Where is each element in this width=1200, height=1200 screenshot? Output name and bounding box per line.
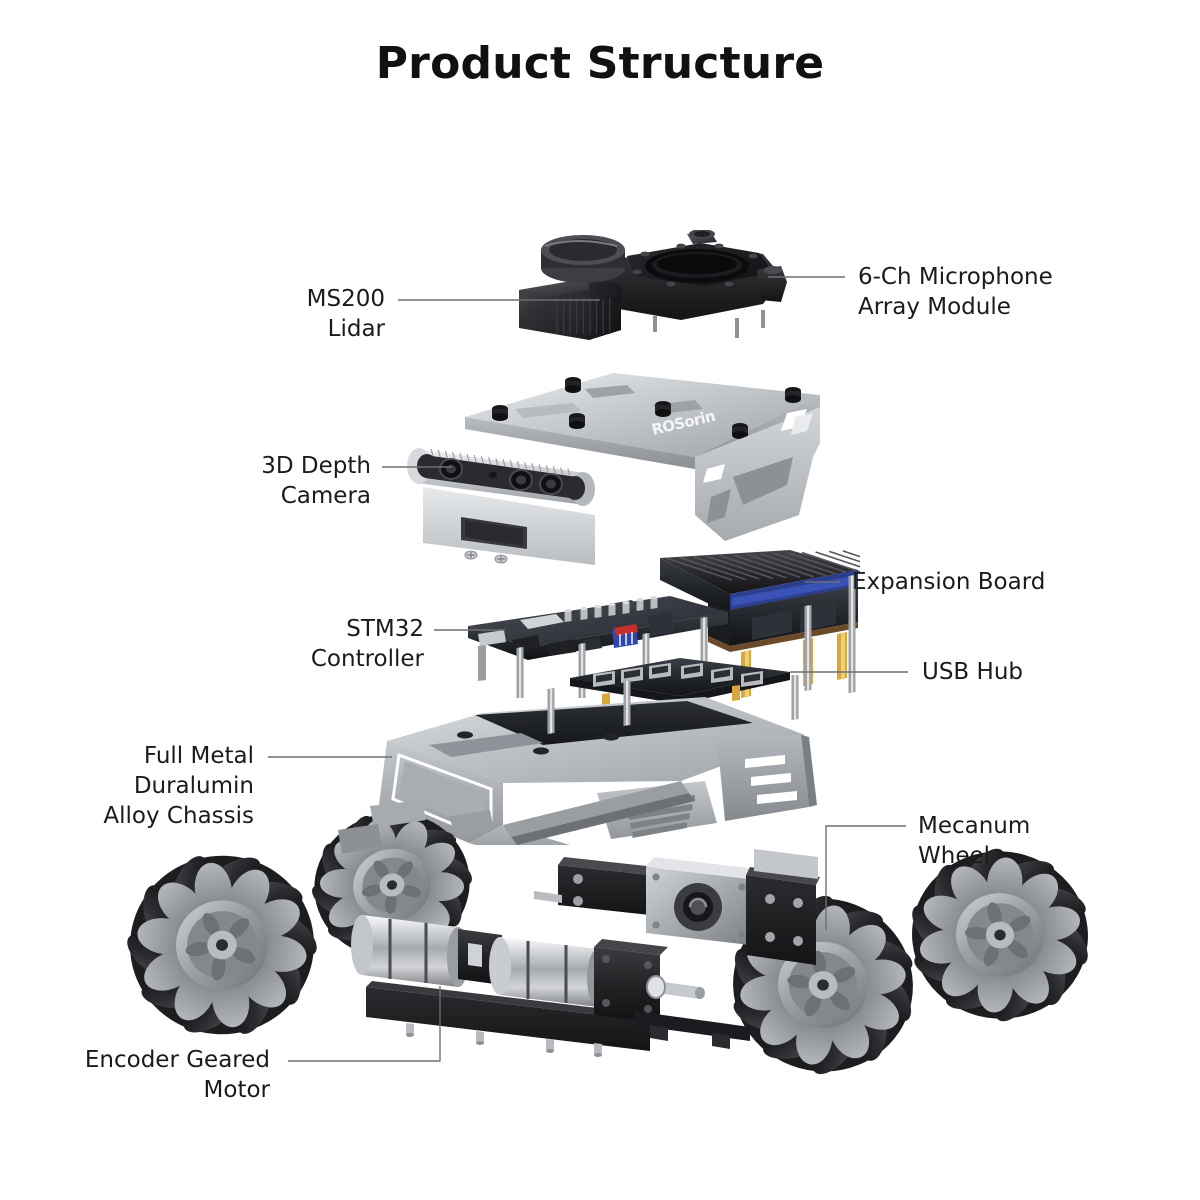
silver-block-screw-1 [738,883,745,890]
diagram-canvas: Product Structure ROSorin MS200 Lidar6-C… [0,0,1200,1200]
encoder-shaft-left [534,891,562,903]
chassis-leg-right [450,810,494,838]
plate-boss-bottom-2 [569,421,585,429]
callout-label-usb-hub: USB Hub [922,658,1026,688]
stm32-cap-top-1 [581,607,588,610]
stm32-cap-top-6 [651,596,658,599]
motor-2-cap-left [489,937,511,995]
callout-label-chassis: Full Metal Duralumin Alloy Chassis [22,742,254,832]
chassis-to-drive-links [330,800,510,890]
chassis-rod-hi-0 [550,688,552,733]
expansion-standoff-hi-2 [841,632,845,679]
mic-port-1 [677,244,686,249]
callout-label-depth-camera: 3D Depth Camera [168,452,371,512]
mic-port-7 [633,270,642,275]
camera-glass-left [417,454,437,478]
mic-mount-pin-2 [653,316,657,332]
mic-port-5 [725,282,734,287]
right-arm-screw-1 [793,898,803,908]
mic-port-3 [749,254,758,259]
motor-1-body [362,915,458,987]
lidar-mic-assembly [505,230,795,350]
motor-2-shaft-collar [647,976,665,998]
stm32-connector-4 [648,612,674,636]
motor-bolt-head-3 [594,1053,602,1057]
chassis-leg-left [370,800,426,828]
motor-1-cap-left [351,915,373,975]
motor-bolt-head-0 [406,1033,414,1037]
right-arm-screw-3 [793,936,803,946]
chassis-rod-hi-2 [794,675,796,720]
stm32-cap-top-3 [609,603,616,606]
encoder-bracket-screw-2 [573,896,583,906]
silver-block-screw-2 [652,921,659,928]
chassis-deck-boss-3 [687,713,703,720]
callout-label-stm32-controller: STM32 Controller [228,615,424,675]
top-plate-assembly: ROSorin [395,365,855,575]
stm32-cap-top-4 [623,601,630,604]
page-title: Product Structure [0,38,1200,89]
gearbox-screw-1 [644,961,652,969]
mic-port-6 [667,282,676,287]
camera-lens-1-inner [446,465,456,474]
gearbox-screw-2 [602,999,610,1007]
motor-2-shaft-end [695,987,705,999]
stm32-cap-top-5 [637,598,644,601]
stm32-cap-top-2 [595,605,602,608]
callout-label-ms200-lidar: MS200 Lidar [245,285,385,345]
plate-boss-bottom-1 [565,385,581,393]
lidar-body-side [589,278,621,340]
mic-mount-pin-1 [761,310,765,328]
motor-2-body [500,937,598,1007]
mic-top-boss-hole [694,231,710,237]
plate-boss-bottom-3 [655,409,671,417]
stm32-cap-top-0 [565,609,572,612]
mic-port-2 [715,244,724,249]
callout-label-encoder-motor: Encoder Geared Motor [24,1046,270,1106]
camera-ir-emitter [489,472,497,479]
camera-lens-3-inner [546,480,556,489]
chassis-deck-boss-1 [509,717,525,724]
camera-glass-right [565,476,585,500]
callout-label-mecanum-wheel: Mecanum Wheel [918,812,1108,872]
chassis-leg-left-lower [338,824,382,854]
callout-label-expansion-board: Expansion Board [852,568,1048,598]
camera-lens-2-inner [516,476,526,485]
chassis-rod-hi-1 [626,680,628,725]
gearbox-screw-3 [644,1005,652,1013]
plate-boss-bottom-0 [492,413,508,421]
mic-array-center-void [657,254,737,274]
encoder-bracket-screw-1 [573,874,583,884]
plate-boss-bottom-4 [785,395,801,403]
right-arm-screw-2 [765,932,775,942]
mic-port-0 [641,252,650,257]
chassis-deck-boss-4 [603,733,619,740]
chassis-deck-boss-0 [457,731,473,738]
gearbox-screw-0 [602,955,610,963]
mic-right-post-top [764,266,782,274]
chassis-deck-boss-5 [533,747,549,754]
silver-block-screw-0 [652,873,659,880]
motor-bolt-head-1 [476,1041,484,1045]
drive-right-arm [746,875,816,965]
motor-bolt-head-2 [546,1049,554,1053]
mic-mount-pin-0 [735,318,739,338]
callout-label-microphone-array: 6-Ch Microphone Array Module [858,263,1068,323]
silver-block-screw-3 [738,931,745,938]
motor-1-label [468,943,482,967]
right-arm-screw-0 [765,894,775,904]
